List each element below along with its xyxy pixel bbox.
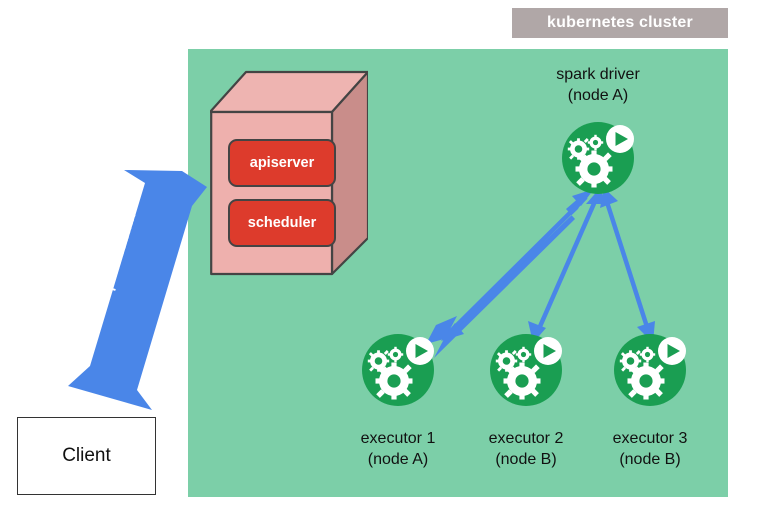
executor-3-label: executor 3 (node B) (570, 428, 730, 470)
client-box[interactable]: Client (17, 417, 156, 495)
executor-3-label-line2: (node B) (570, 449, 730, 470)
executor-3-pod[interactable] (612, 330, 688, 406)
spark-driver-label-line1: spark driver (518, 64, 678, 85)
spark-driver-label-line2: (node A) (518, 85, 678, 106)
spark-driver-pod[interactable] (560, 118, 636, 194)
scheduler-component[interactable]: scheduler (228, 199, 336, 247)
executor-2-pod[interactable] (488, 330, 564, 406)
executor-3-label-line1: executor 3 (570, 428, 730, 449)
apiserver-component[interactable]: apiserver (228, 139, 336, 187)
diagram-canvas: kubernetes cluster apiserver scheduler (0, 0, 761, 516)
control-plane-cube: apiserver scheduler (210, 66, 368, 276)
pod-large-gear-icon (628, 363, 665, 400)
kubernetes-cluster-label: kubernetes cluster (512, 8, 728, 38)
pod-play-badge-icon (658, 337, 686, 365)
executor-1-pod[interactable] (360, 330, 436, 406)
spark-submit-arrow (68, 170, 207, 410)
pod-play-badge-icon (406, 337, 434, 365)
pod-large-gear-icon (376, 363, 413, 400)
pod-large-gear-icon (576, 151, 613, 188)
pod-play-badge-icon (606, 125, 634, 153)
spark-submit-label: spark-submit (97, 211, 138, 300)
pod-large-gear-icon (504, 363, 541, 400)
cube-front-face (211, 112, 332, 274)
spark-driver-label: spark driver (node A) (518, 64, 678, 106)
pod-play-badge-icon (534, 337, 562, 365)
